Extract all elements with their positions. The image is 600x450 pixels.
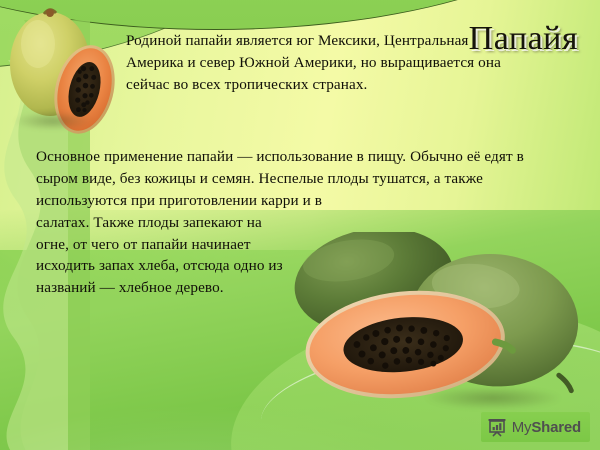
- watermark-shared: Shared: [531, 419, 581, 436]
- papaya-image-top-left: [0, 0, 134, 146]
- body-paragraph-narrow-part: салатах. Также плоды запекают на огне, о…: [36, 212, 286, 300]
- watermark-label: MyShared: [512, 419, 581, 436]
- presentation-slide: Папайя Родиной папайи является юг Мексик…: [0, 0, 600, 450]
- presentation-chart-icon: [487, 417, 507, 437]
- body-paragraph: Основное применение папайи — использован…: [36, 146, 556, 299]
- papaya-shadow: [398, 382, 588, 414]
- intro-paragraph: Родиной папайи является юг Мексики, Цент…: [126, 30, 518, 96]
- papaya-shadow: [0, 108, 108, 134]
- myshared-watermark[interactable]: MyShared: [481, 412, 590, 442]
- watermark-my: My: [512, 419, 532, 436]
- body-paragraph-wide-part: Основное применение папайи — использован…: [36, 148, 524, 209]
